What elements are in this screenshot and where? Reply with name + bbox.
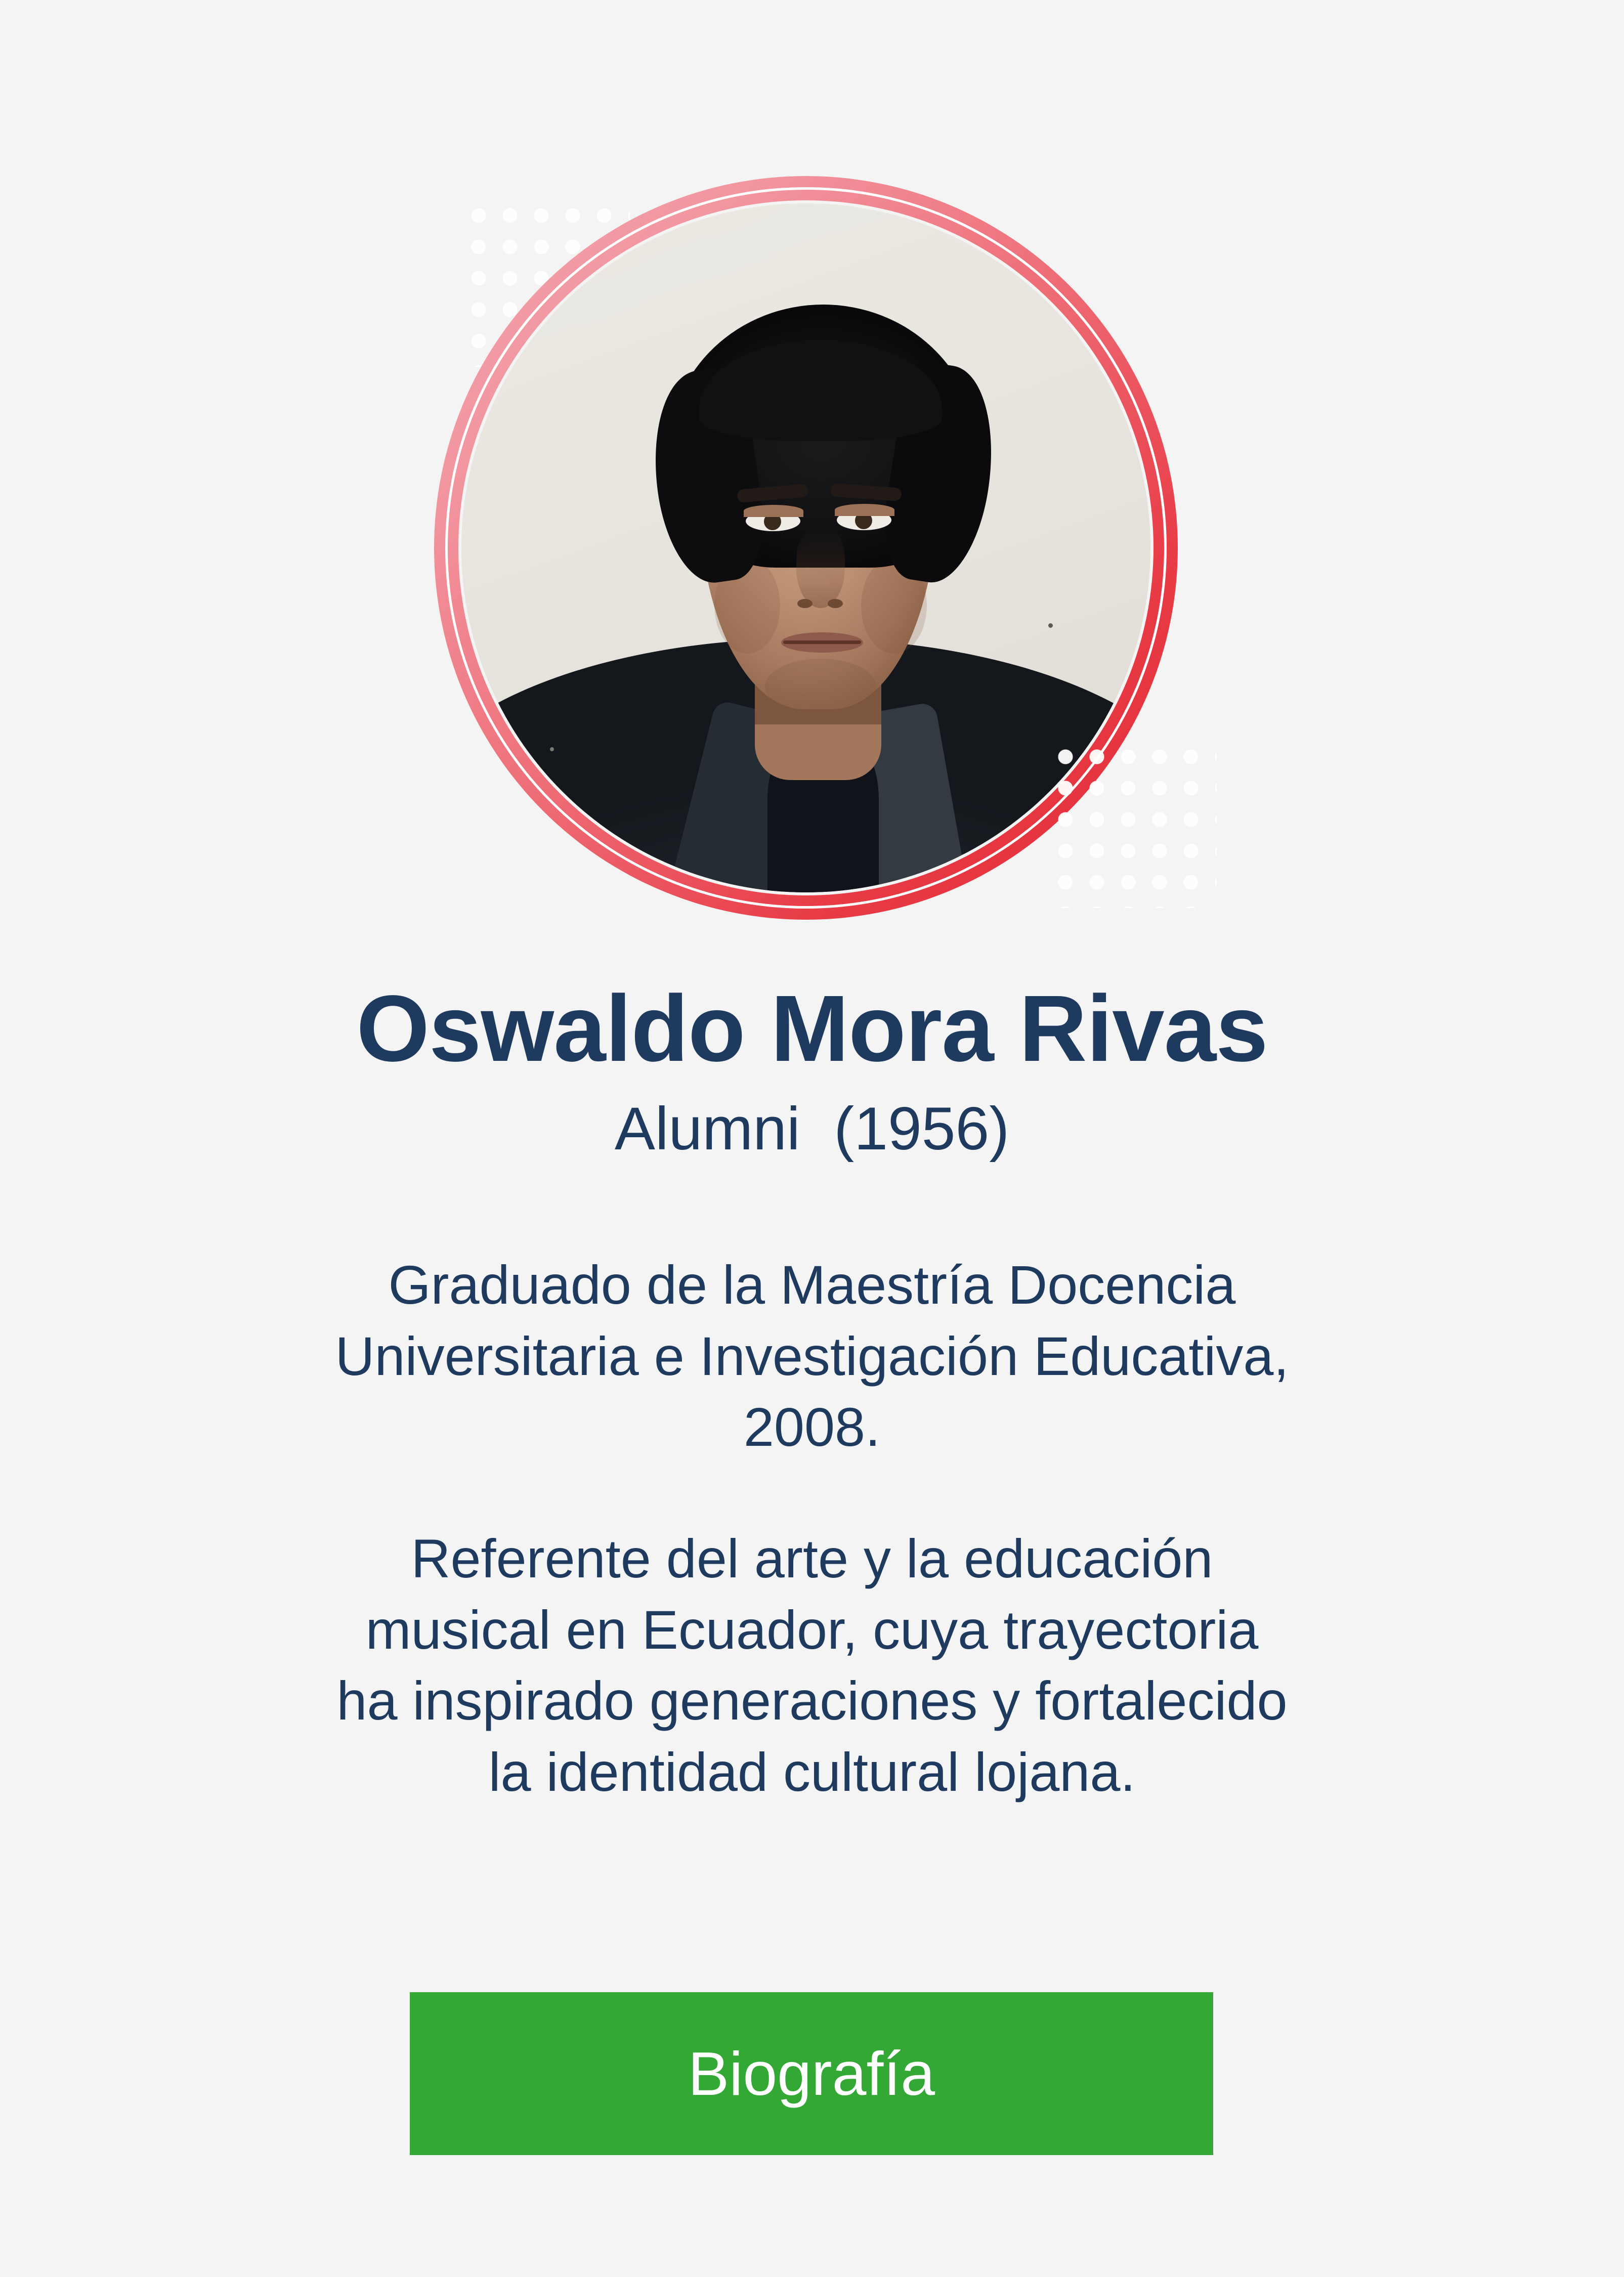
portrait-block [0,0,1624,961]
profile-bio-paragraph-1: Graduado de la Maestría Docencia Univers… [0,1250,1624,1463]
profile-role: Alumni (1956) [0,1094,1624,1164]
biography-button[interactable]: Biografía [410,1992,1213,2155]
profile-text-block: Oswaldo Mora Rivas Alumni (1956) Graduad… [0,976,1624,1808]
cta-container: Biografía [410,1992,1213,2155]
page-title: Oswaldo Mora Rivas [0,976,1624,1082]
avatar [461,203,1150,892]
profile-bio-paragraph-2: Referente del arte y la educación musica… [0,1523,1624,1808]
alumni-profile-card: Oswaldo Mora Rivas Alumni (1956) Graduad… [0,0,1624,2277]
